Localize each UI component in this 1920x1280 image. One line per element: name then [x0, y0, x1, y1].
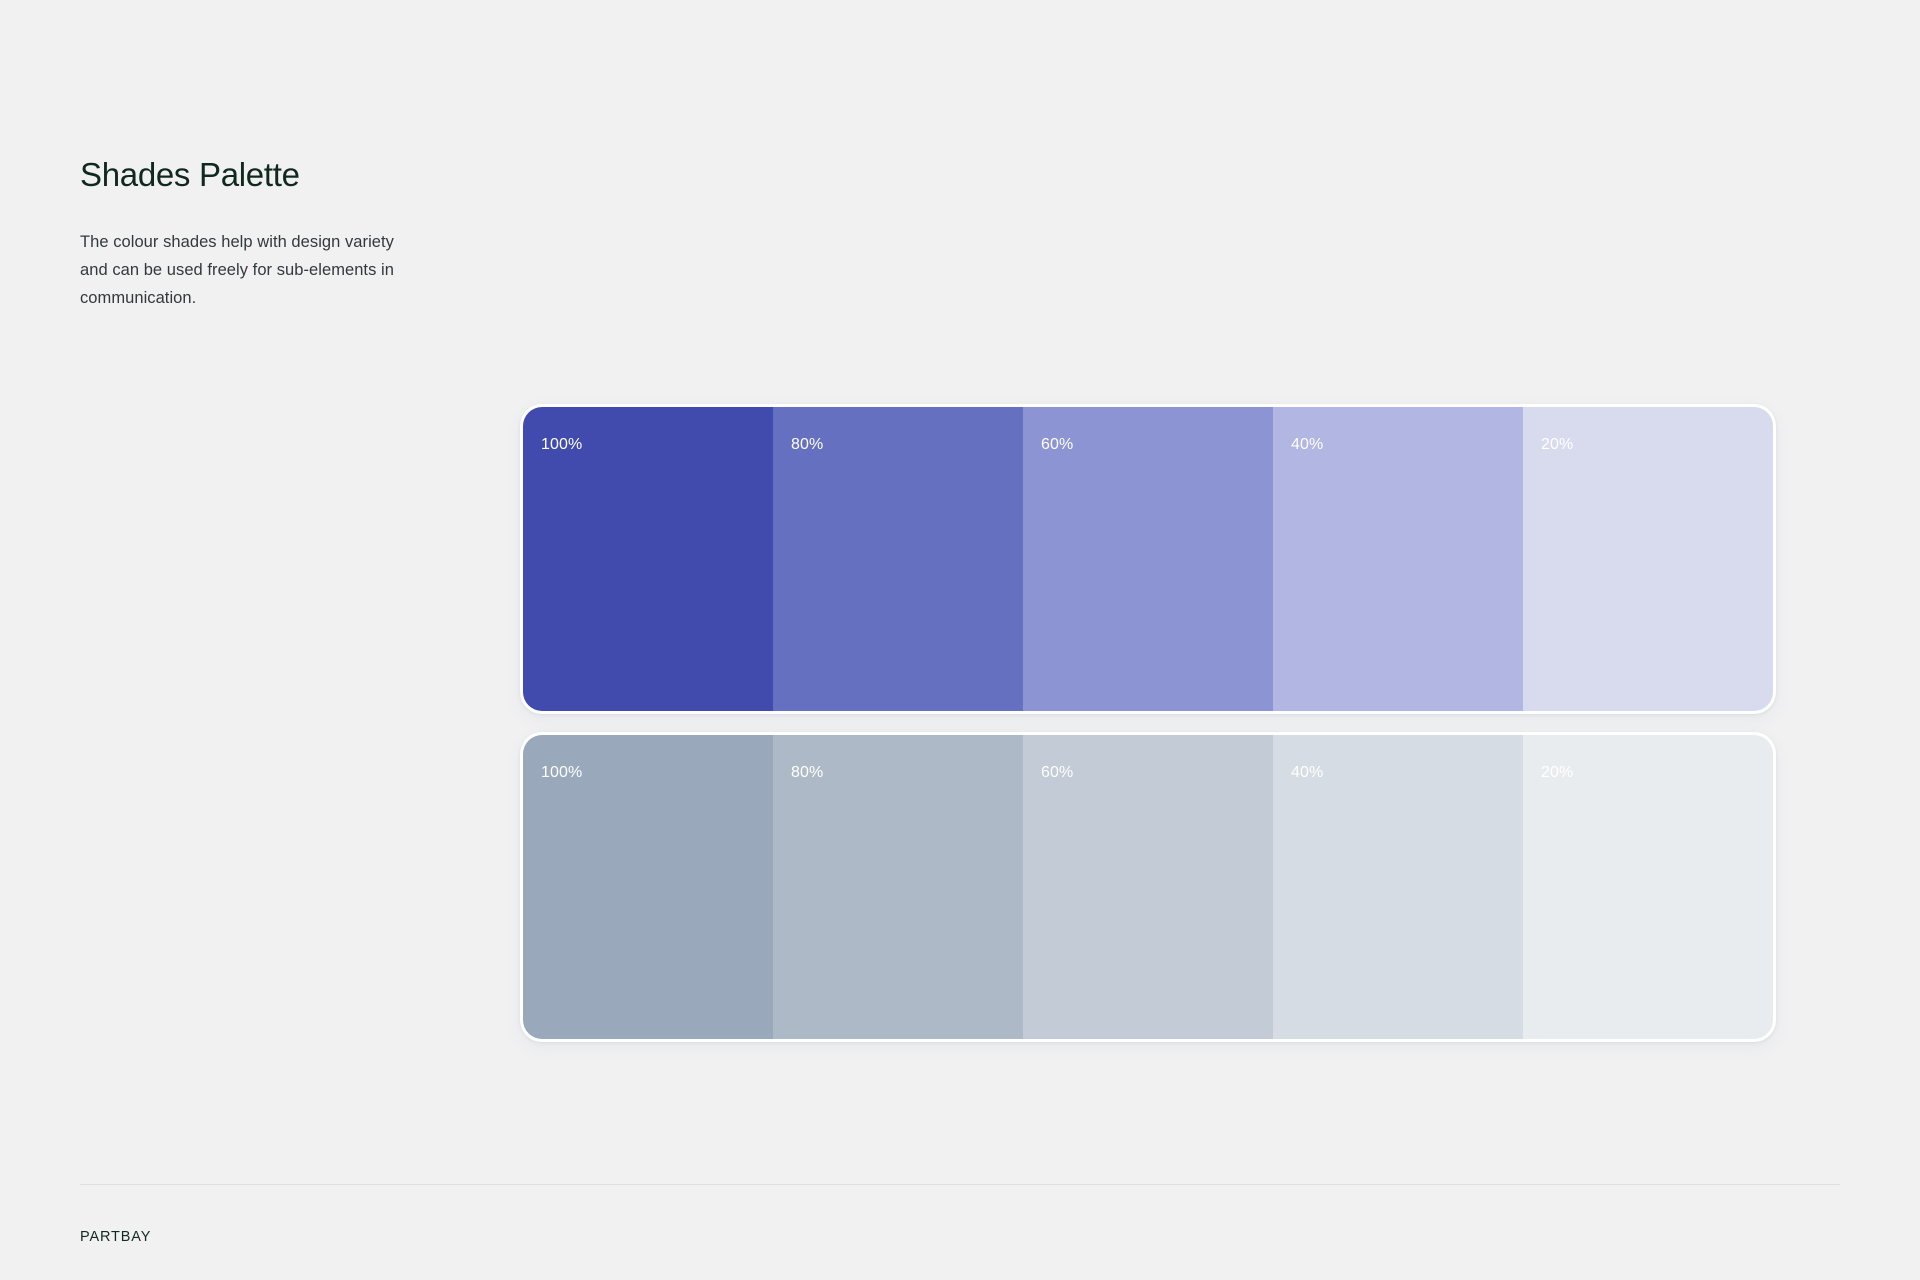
palette-row-primary-indigo: 100% 80% 60% 40% 20% [520, 404, 1776, 714]
swatch-label: 40% [1291, 436, 1323, 454]
swatch-slate-100[interactable]: 100% [523, 735, 773, 1039]
swatch-slate-20[interactable]: 20% [1523, 735, 1773, 1039]
palette-row-secondary-slate: 100% 80% 60% 40% 20% [520, 732, 1776, 1042]
header-text-block: Shades Palette The colour shades help wi… [80, 155, 500, 312]
footer-divider [80, 1184, 1840, 1185]
swatch-label: 100% [541, 436, 582, 454]
swatch-indigo-20[interactable]: 20% [1523, 407, 1773, 711]
swatch-label: 40% [1291, 764, 1323, 782]
swatch-strip: 100% 80% 60% 40% 20% [523, 407, 1773, 711]
swatch-label: 20% [1541, 436, 1573, 454]
footer-brand-wordmark: PARTBAY [80, 1228, 151, 1246]
swatch-slate-80[interactable]: 80% [773, 735, 1023, 1039]
swatch-indigo-80[interactable]: 80% [773, 407, 1023, 711]
swatch-slate-60[interactable]: 60% [1023, 735, 1273, 1039]
swatch-label: 80% [791, 436, 823, 454]
swatch-slate-40[interactable]: 40% [1273, 735, 1523, 1039]
swatch-strip: 100% 80% 60% 40% 20% [523, 735, 1773, 1039]
swatch-label: 60% [1041, 436, 1073, 454]
swatch-label: 60% [1041, 764, 1073, 782]
swatch-label: 80% [791, 764, 823, 782]
swatch-indigo-40[interactable]: 40% [1273, 407, 1523, 711]
shades-palette: 100% 80% 60% 40% 20% 100% 80% [520, 404, 1776, 1042]
swatch-label: 100% [541, 764, 582, 782]
page-title: Shades Palette [80, 155, 500, 195]
page-description: The colour shades help with design varie… [80, 228, 415, 312]
footer: PARTBAY [80, 1184, 1840, 1280]
swatch-indigo-100[interactable]: 100% [523, 407, 773, 711]
swatch-label: 20% [1541, 764, 1573, 782]
swatch-indigo-60[interactable]: 60% [1023, 407, 1273, 711]
